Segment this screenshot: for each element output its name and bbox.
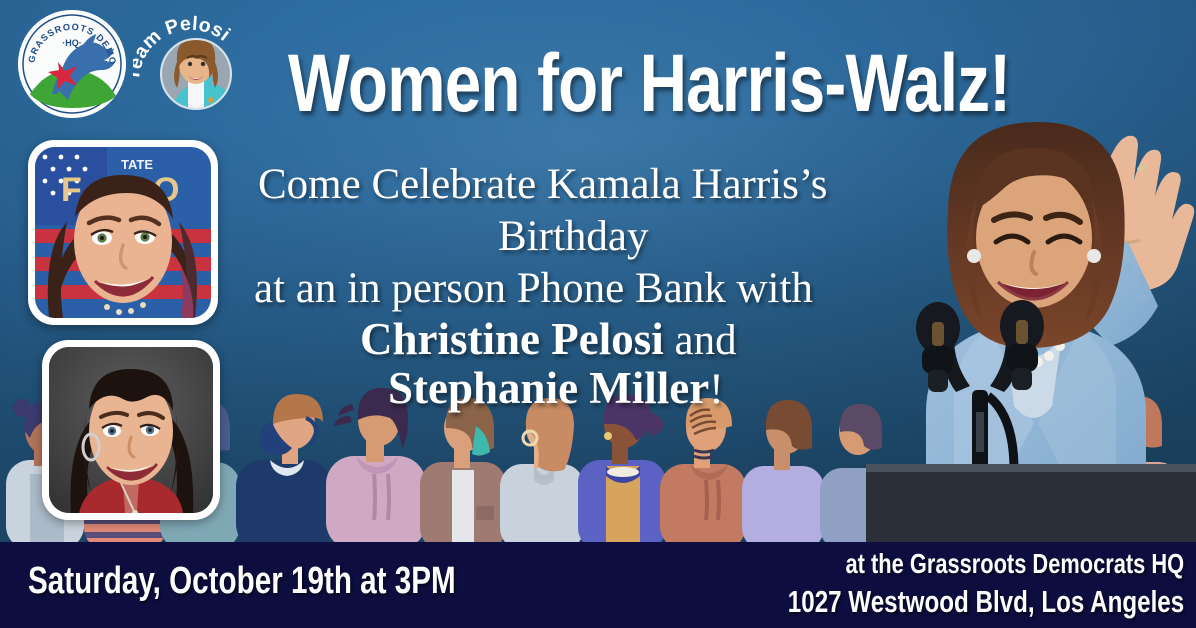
body-line-2: Birthday (498, 212, 648, 261)
venue-address: 1027 Westwood Blvd, Los Angeles (788, 584, 1184, 620)
svg-text:TATE: TATE (121, 157, 153, 172)
crowd-figure-10 (742, 400, 824, 542)
event-flyer: GRASSROOTS DEMOCRATS ·HQ· · · GRASSROOTS… (0, 0, 1196, 628)
team-pelosi-badge[interactable]: Team Pelosi (133, 8, 245, 120)
crowd-figure-8 (578, 394, 666, 542)
crowd-figure-7 (500, 398, 584, 542)
crowd-figure-6 (420, 398, 506, 542)
kamala-harris-photo (866, 60, 1196, 542)
stephanie-miller-photo[interactable]: TATE F O (28, 140, 218, 325)
event-datetime: Saturday, October 19th at 3PM (28, 560, 456, 603)
body-conjunction: and (664, 317, 737, 364)
christine-pelosi-photo[interactable] (42, 340, 220, 520)
logo-center-text: ·HQ· (62, 38, 82, 48)
bottom-banner: Saturday, October 19th at 3PM at the Gra… (0, 542, 1196, 628)
grassroots-democrats-hq-logo[interactable]: GRASSROOTS DEMOCRATS ·HQ· · · (18, 10, 126, 118)
body-line-3: at an in person Phone Bank with (254, 264, 813, 313)
speaker-christine-pelosi: Christine Pelosi (360, 314, 664, 364)
crowd-figure-9 (660, 398, 746, 542)
venue-name: at the Grassroots Democrats HQ (845, 548, 1184, 580)
crowd-figure-4 (236, 394, 332, 542)
body-line-1: Come Celebrate Kamala Harris’s (258, 160, 828, 209)
page-title: Women for Harris-Walz! (288, 36, 1010, 132)
body-exclamation: ! (709, 366, 723, 413)
speaker-stephanie-miller: Stephanie Miller (388, 363, 709, 413)
